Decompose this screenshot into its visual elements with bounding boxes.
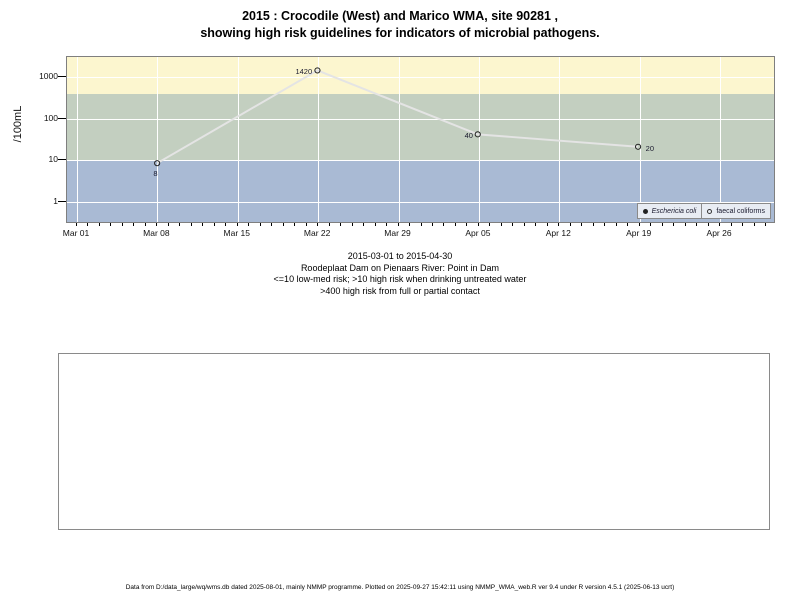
y-tick-mark-100: [58, 118, 66, 119]
x-tick-minor: [375, 223, 376, 226]
x-tick-minor: [191, 223, 192, 226]
x-tick-label-mar-01: Mar 01: [46, 228, 106, 238]
x-tick-minor: [225, 223, 226, 226]
x-tick-minor: [616, 223, 617, 226]
x-tick-minor: [696, 223, 697, 226]
x-tick-minor: [765, 223, 766, 226]
x-tick-minor: [421, 223, 422, 226]
x-tick-label-apr-05: Apr 05: [448, 228, 508, 238]
legend-label-faecal-coliforms: faecal coliforms: [716, 208, 765, 215]
subtitle-guideline-contact: >400 high risk from full or partial cont…: [0, 286, 800, 298]
x-tick-minor: [340, 223, 341, 226]
x-tick-minor: [455, 223, 456, 226]
x-tick-minor: [650, 223, 651, 226]
x-tick-minor: [742, 223, 743, 226]
x-tick-minor: [214, 223, 215, 226]
x-tick-minor: [283, 223, 284, 226]
series-line-0: [157, 70, 638, 163]
x-tick-minor: [386, 223, 387, 226]
secondary-empty-panel: [58, 353, 770, 530]
x-tick-minor: [731, 223, 732, 226]
x-tick-minor: [443, 223, 444, 226]
y-axis-label: /100mL: [12, 84, 24, 164]
x-tick-minor: [673, 223, 674, 226]
y-tick-label-1000: 1000: [18, 71, 58, 81]
x-tick-minor: [248, 223, 249, 226]
legend-entry-eschericia-coli[interactable]: Eschericia coli: [638, 204, 702, 218]
x-tick-minor: [512, 223, 513, 226]
data-point-label-1420: 1420: [295, 67, 312, 76]
subtitle-guideline-drinking: <=10 low-med risk; >10 high risk when dr…: [0, 274, 800, 286]
x-tick-minor: [317, 223, 318, 226]
x-tick-minor: [122, 223, 123, 226]
subtitle-site-description: Roodeplaat Dam on Pienaars River: Point …: [0, 263, 800, 275]
x-tick-minor: [145, 223, 146, 226]
x-tick-minor: [535, 223, 536, 226]
x-tick-label-mar-29: Mar 29: [368, 228, 428, 238]
x-tick-minor: [76, 223, 77, 226]
x-tick-minor: [363, 223, 364, 226]
x-tick-minor: [179, 223, 180, 226]
x-tick-minor: [271, 223, 272, 226]
x-tick-label-mar-22: Mar 22: [287, 228, 347, 238]
data-point-label-20: 20: [646, 144, 654, 153]
x-tick-minor: [478, 223, 479, 226]
x-tick-minor: [593, 223, 594, 226]
x-tick-minor: [168, 223, 169, 226]
plot-panel: 814204020 Eschericia coli faecal colifor…: [66, 56, 775, 223]
x-tick-minor: [352, 223, 353, 226]
x-tick-minor: [156, 223, 157, 226]
x-tick-minor: [639, 223, 640, 226]
chart-title-line-1: 2015 : Crocodile (West) and Marico WMA, …: [0, 8, 800, 25]
x-tick-minor: [432, 223, 433, 226]
x-tick-minor: [558, 223, 559, 226]
x-tick-minor: [627, 223, 628, 226]
x-tick-minor: [489, 223, 490, 226]
y-tick-label-100: 100: [18, 113, 58, 123]
x-tick-minor: [294, 223, 295, 226]
x-tick-minor: [547, 223, 548, 226]
x-tick-minor: [110, 223, 111, 226]
x-tick-minor: [754, 223, 755, 226]
x-tick-minor: [202, 223, 203, 226]
x-tick-minor: [604, 223, 605, 226]
x-tick-label-mar-15: Mar 15: [207, 228, 267, 238]
filled-circle-icon: [643, 209, 648, 214]
series-layer: [67, 57, 774, 222]
x-tick-minor: [99, 223, 100, 226]
x-tick-minor: [708, 223, 709, 226]
x-tick-minor: [398, 223, 399, 226]
x-tick-minor: [133, 223, 134, 226]
x-tick-minor: [237, 223, 238, 226]
x-tick-minor: [524, 223, 525, 226]
x-tick-minor: [306, 223, 307, 226]
open-circle-icon: [707, 209, 712, 214]
x-tick-minor: [87, 223, 88, 226]
data-point-label-8: 8: [153, 169, 157, 178]
x-tick-minor: [329, 223, 330, 226]
legend-label-eschericia-coli: Eschericia coli: [652, 208, 697, 215]
data-point-label-40: 40: [465, 131, 473, 140]
footer-provenance-text: Data from D:/data_large/wq/wms.db dated …: [0, 584, 800, 591]
y-tick-label-1: 1: [18, 196, 58, 206]
x-tick-label-mar-08: Mar 08: [126, 228, 186, 238]
x-tick-minor: [501, 223, 502, 226]
x-tick-minor: [685, 223, 686, 226]
x-tick-minor: [662, 223, 663, 226]
chart-subtitle: 2015-03-01 to 2015-04-30 Roodeplaat Dam …: [0, 251, 800, 297]
chart-title: 2015 : Crocodile (West) and Marico WMA, …: [0, 8, 800, 42]
x-tick-minor: [466, 223, 467, 226]
x-tick-minor: [570, 223, 571, 226]
y-tick-mark-1000: [58, 76, 66, 77]
legend-entry-faecal-coliforms[interactable]: faecal coliforms: [701, 204, 770, 218]
x-tick-label-apr-26: Apr 26: [689, 228, 749, 238]
x-tick-minor: [260, 223, 261, 226]
y-tick-mark-1: [58, 201, 66, 202]
chart-title-line-2: showing high risk guidelines for indicat…: [0, 25, 800, 42]
x-tick-label-apr-12: Apr 12: [528, 228, 588, 238]
x-tick-label-apr-19: Apr 19: [609, 228, 669, 238]
y-tick-label-10: 10: [18, 154, 58, 164]
subtitle-date-range: 2015-03-01 to 2015-04-30: [0, 251, 800, 263]
x-tick-minor: [719, 223, 720, 226]
x-tick-minor: [581, 223, 582, 226]
x-tick-minor: [409, 223, 410, 226]
chart-legend[interactable]: Eschericia coli faecal coliforms: [637, 203, 771, 219]
y-tick-mark-10: [58, 159, 66, 160]
